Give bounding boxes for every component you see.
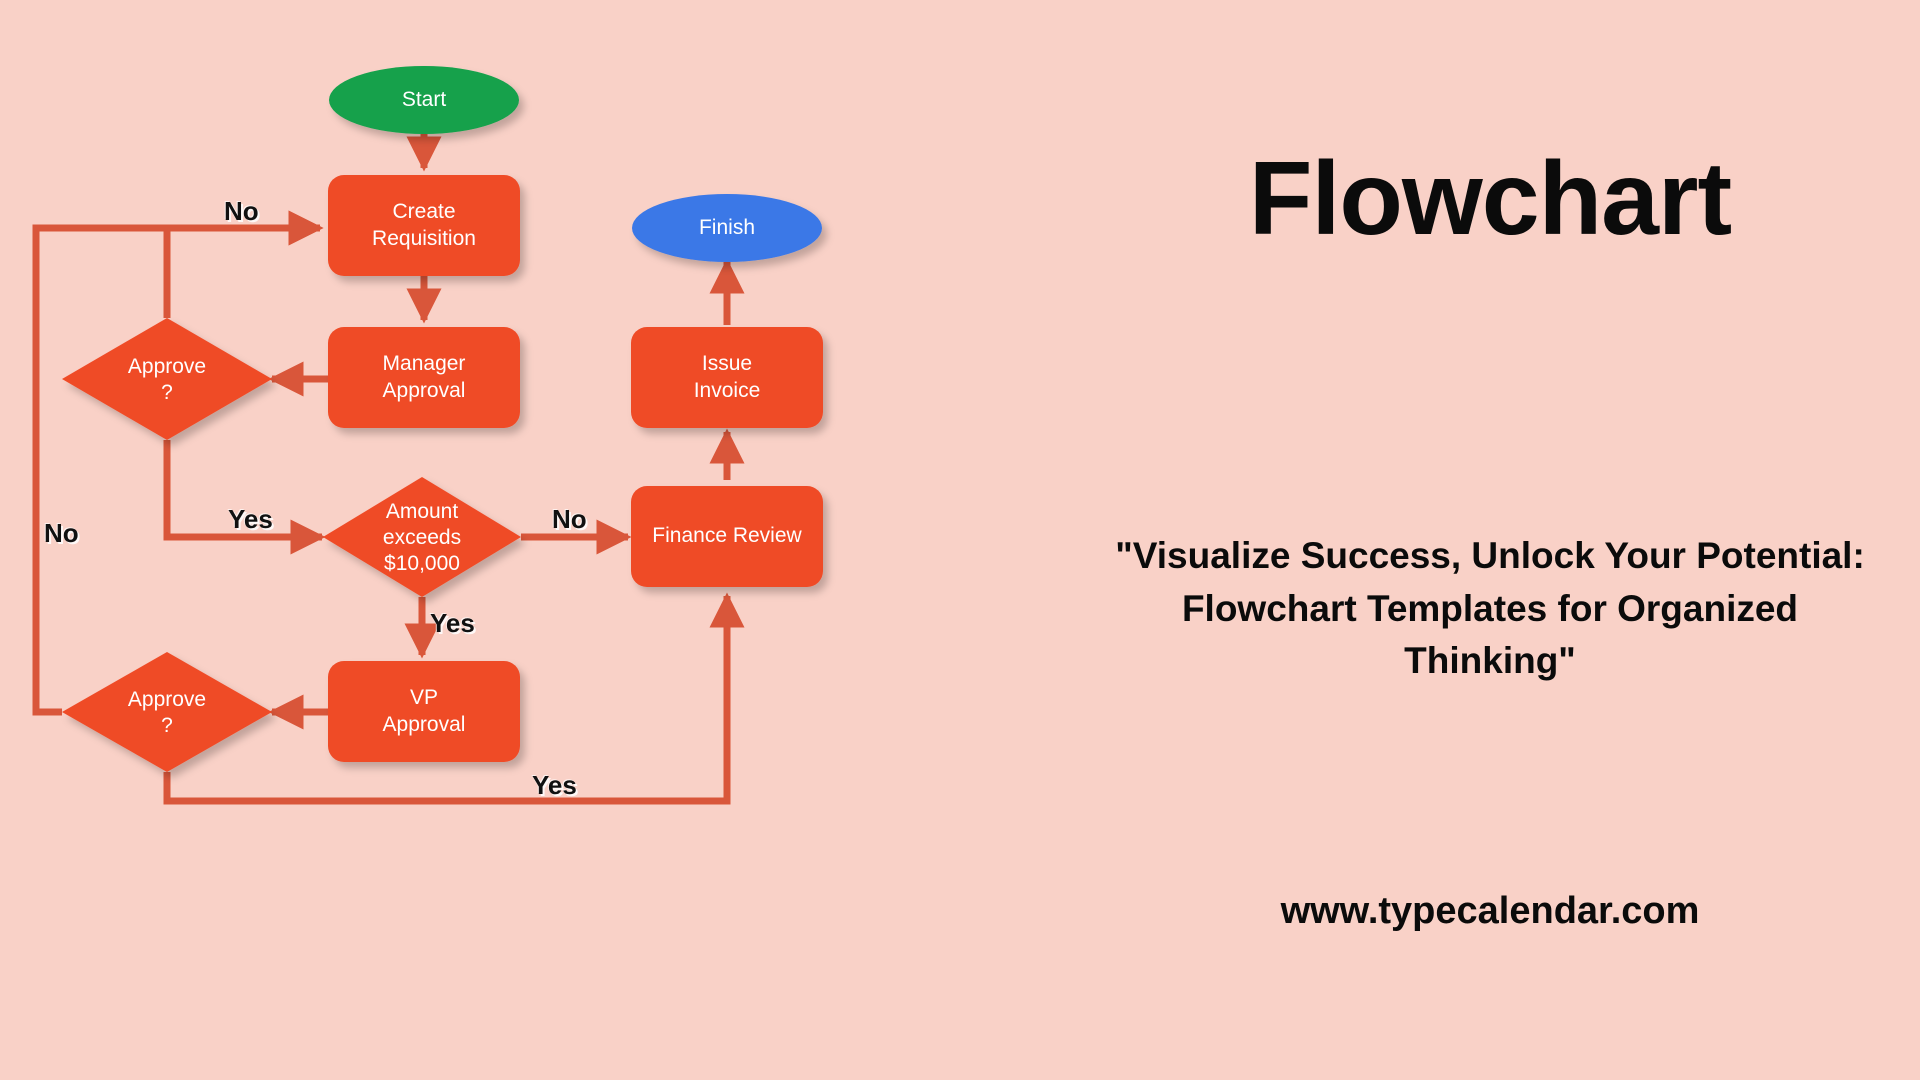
site-url: www.typecalendar.com xyxy=(1060,890,1920,933)
edge-label-yes-mid: Yes xyxy=(228,504,273,535)
edge-label-no-amount: No xyxy=(552,504,587,535)
node-start[interactable] xyxy=(329,66,519,134)
node-approve-decision-2[interactable] xyxy=(62,652,272,772)
edge-approve1-no xyxy=(167,228,320,318)
node-finish[interactable] xyxy=(632,194,822,262)
node-create-requisition[interactable] xyxy=(328,175,520,276)
node-approve-decision-1[interactable] xyxy=(62,318,272,440)
node-issue-invoice[interactable] xyxy=(631,327,823,428)
node-finance-review[interactable] xyxy=(631,486,823,587)
poster-canvas: Start Create Requisition Manager Approva… xyxy=(0,0,1920,1080)
node-manager-approval[interactable] xyxy=(328,327,520,428)
node-vp-approval[interactable] xyxy=(328,661,520,762)
flowchart-canvas xyxy=(0,0,1060,1080)
page-title: Flowchart xyxy=(1060,140,1920,259)
edge-label-no-top: No xyxy=(224,196,259,227)
edge-label-no-left: No xyxy=(44,518,79,549)
edge-approve2-no xyxy=(36,228,320,712)
node-amount-decision[interactable] xyxy=(323,477,521,597)
tagline-text: "Visualize Success, Unlock Your Potentia… xyxy=(1100,530,1880,688)
flowchart-shapes xyxy=(62,66,823,772)
edge-label-yes-amount: Yes xyxy=(430,608,475,639)
edge-label-yes-bottom: Yes xyxy=(532,770,577,801)
right-text-panel: Flowchart "Visualize Success, Unlock You… xyxy=(1060,0,1920,1080)
